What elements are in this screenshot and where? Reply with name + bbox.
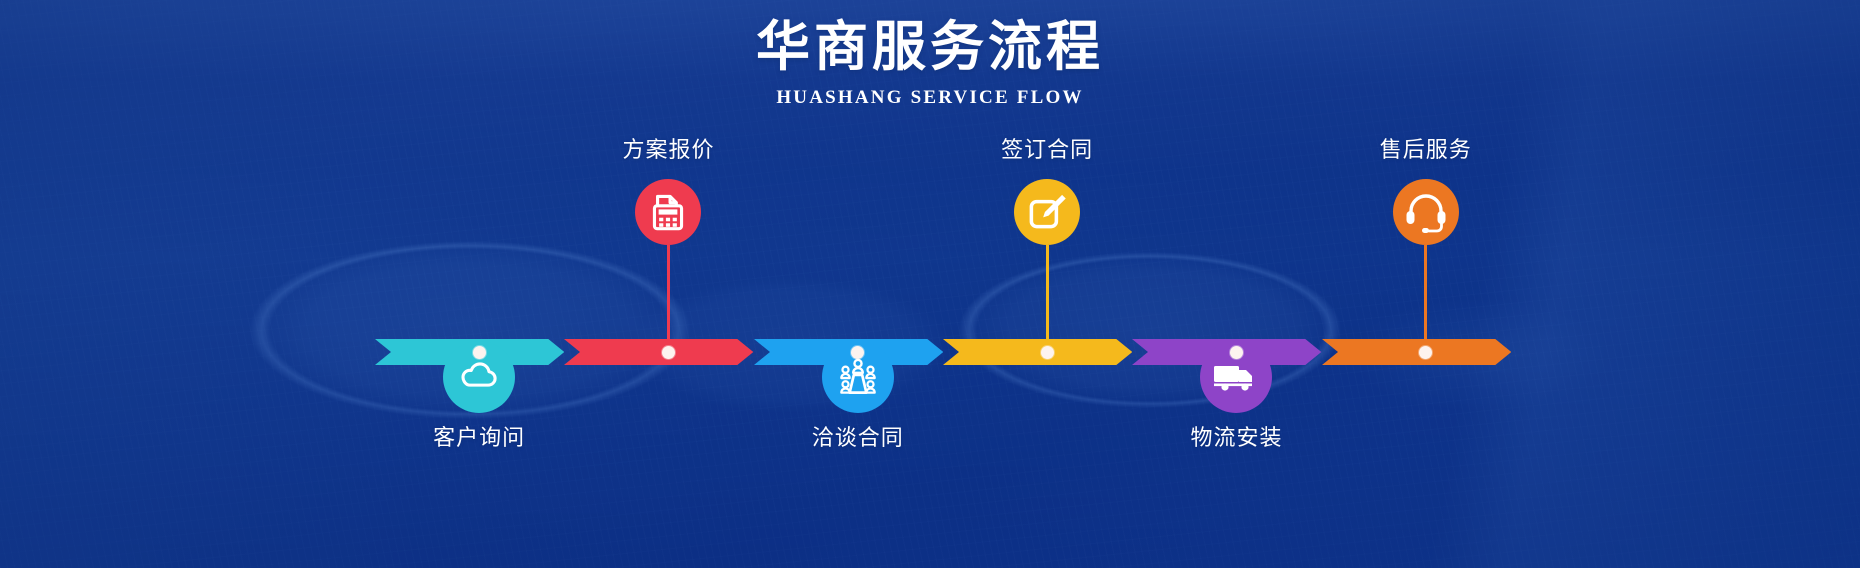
arrow-shape-4 bbox=[943, 339, 1132, 365]
service-flow-banner: 华商服务流程 HUASHANG SERVICE FLOW 客户询问方案报价洽谈合… bbox=[0, 0, 1860, 568]
flow-arrow-segment-4[interactable] bbox=[943, 339, 1132, 365]
arrow-shape-6 bbox=[1322, 339, 1511, 365]
flow-step-label-1: 客户询问 bbox=[389, 425, 569, 451]
flow-step-label-3: 洽谈合同 bbox=[768, 425, 948, 451]
pen-edit-square-icon bbox=[1022, 187, 1072, 237]
flow-arrow-segment-6[interactable] bbox=[1322, 339, 1511, 365]
flow-node-dot-2[interactable] bbox=[662, 346, 675, 359]
flow-step-label-4: 签订合同 bbox=[957, 137, 1137, 163]
flow-node-dot-3[interactable] bbox=[851, 346, 864, 359]
flow-step-label-5: 物流安装 bbox=[1146, 425, 1326, 451]
flow-node-dot-1[interactable] bbox=[473, 346, 486, 359]
meeting-table-icon bbox=[833, 352, 883, 402]
delivery-truck-icon bbox=[1210, 351, 1262, 403]
flow-connector-line-4 bbox=[1046, 245, 1049, 352]
flow-node-dot-6[interactable] bbox=[1419, 346, 1432, 359]
calculator-quote-icon bbox=[643, 187, 693, 237]
flow-step-bubble-2[interactable] bbox=[635, 179, 701, 245]
flow-node-dot-4[interactable] bbox=[1041, 346, 1054, 359]
flow-node-dot-5[interactable] bbox=[1230, 346, 1243, 359]
arrow-shape-2 bbox=[564, 339, 753, 365]
flow-step-bubble-4[interactable] bbox=[1014, 179, 1080, 245]
process-flow-diagram: 客户询问方案报价洽谈合同签订合同物流安装售后服务 bbox=[0, 0, 1860, 568]
flow-connector-line-2 bbox=[667, 245, 670, 352]
cloud-chat-icon bbox=[456, 354, 502, 400]
flow-step-label-2: 方案报价 bbox=[578, 137, 758, 163]
flow-connector-line-6 bbox=[1424, 245, 1427, 352]
headset-support-icon bbox=[1400, 186, 1452, 238]
flow-step-label-6: 售后服务 bbox=[1336, 137, 1516, 163]
flow-arrow-chain bbox=[375, 339, 1511, 365]
flow-step-bubble-6[interactable] bbox=[1393, 179, 1459, 245]
flow-arrow-segment-2[interactable] bbox=[564, 339, 753, 365]
